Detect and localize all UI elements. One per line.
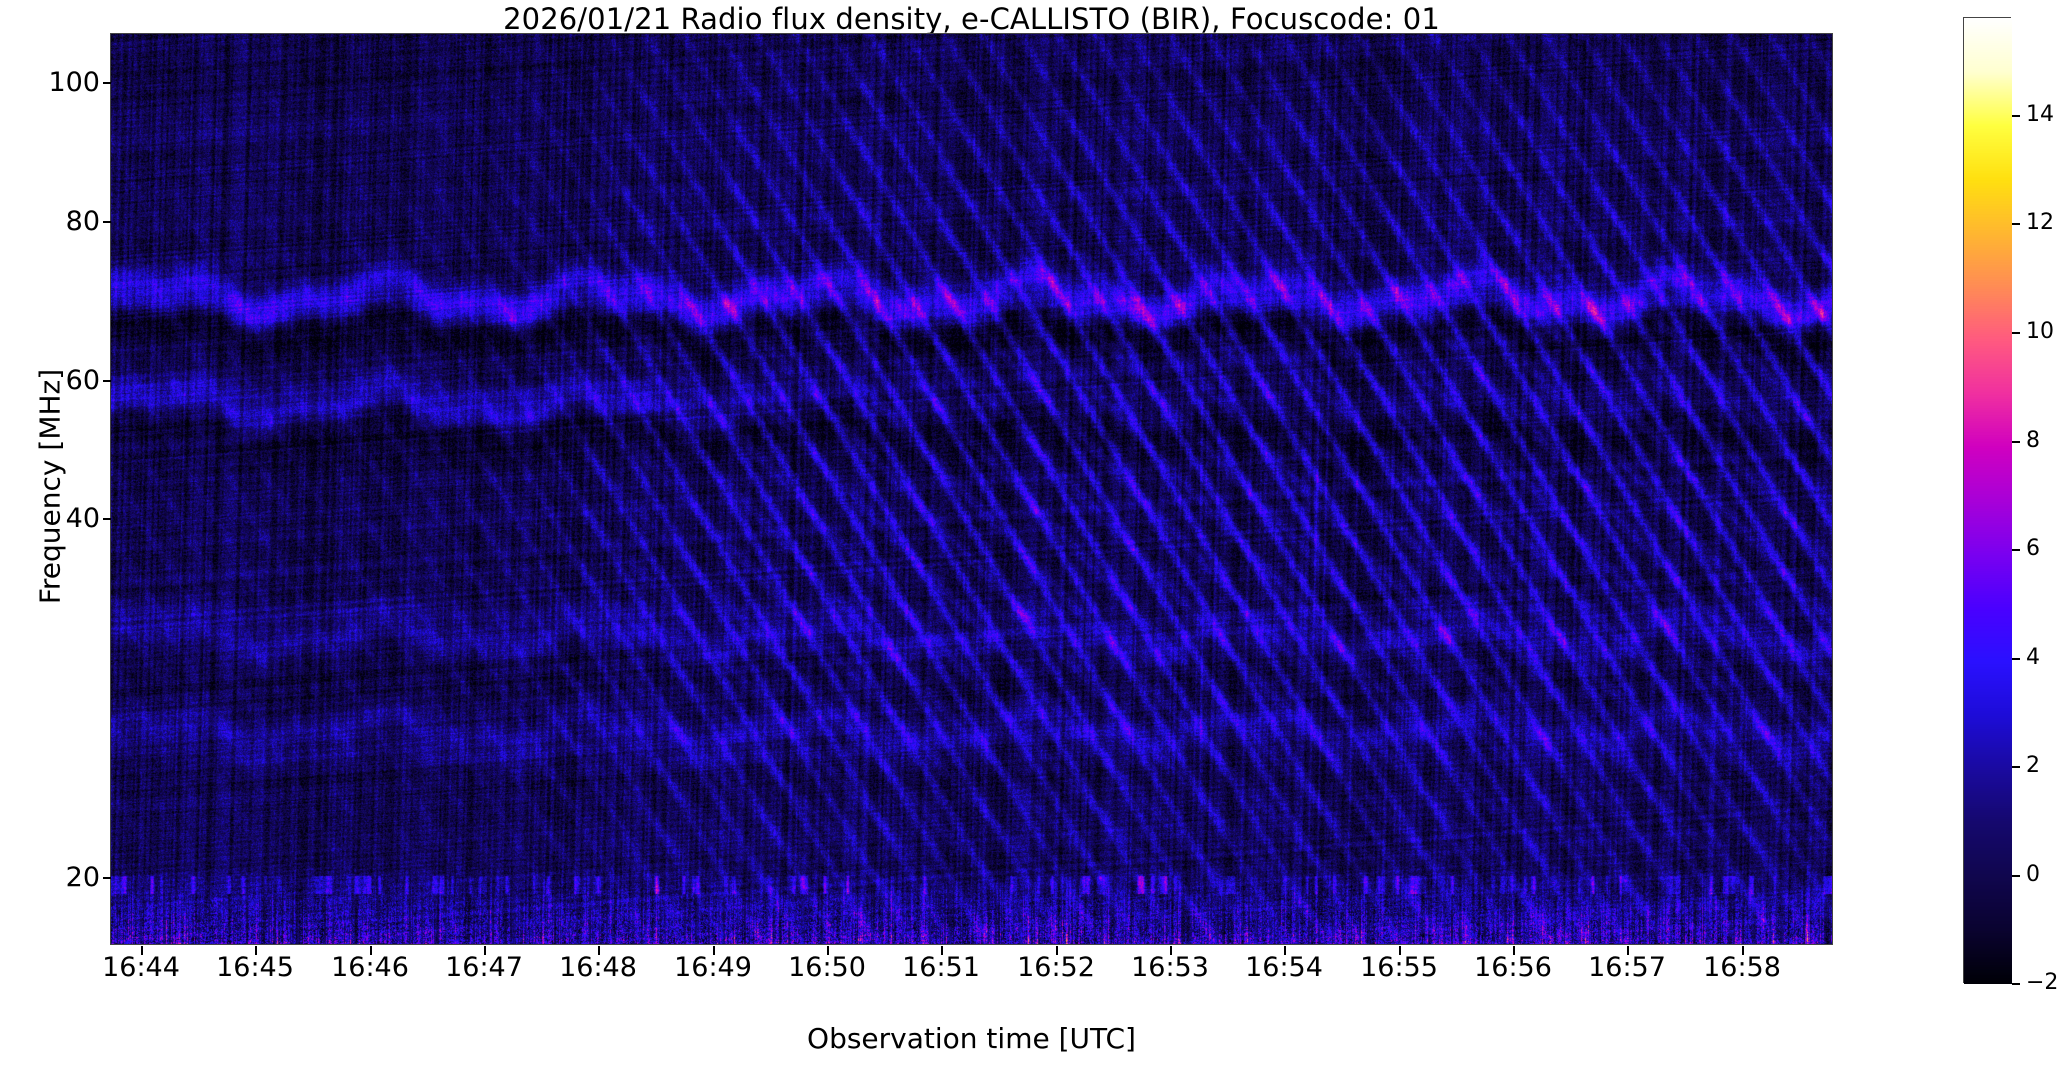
y-tick-label: 20 (8, 864, 100, 891)
x-tick-mark (941, 946, 943, 955)
figure-canvas: 2026/01/21 Radio flux density, e-CALLIST… (0, 0, 2066, 1067)
colorbar-tick-label: 2 (2026, 755, 2040, 777)
colorbar-gradient (1964, 18, 2012, 984)
y-tick-mark (103, 518, 111, 520)
x-tick-mark (713, 946, 715, 955)
colorbar-tick-label: 6 (2026, 538, 2040, 560)
colorbar-tick-mark (2012, 332, 2020, 334)
y-tick-mark (103, 221, 111, 223)
colorbar-tick-mark (2012, 223, 2020, 225)
x-axis-label: Observation time [UTC] (110, 1022, 1833, 1055)
spectrogram-image (111, 34, 1833, 945)
colorbar-tick-mark (2012, 441, 2020, 443)
colorbar-tick-mark (2012, 658, 2020, 660)
x-tick-mark (1056, 946, 1058, 955)
colorbar-tick-label: 8 (2026, 430, 2040, 452)
colorbar-tick-mark (2012, 875, 2020, 877)
x-tick-mark (1627, 946, 1629, 955)
colorbar-tick-label: 14 (2026, 104, 2054, 126)
x-tick-mark (1399, 946, 1401, 955)
colorbar-tick-label: −2 (2026, 972, 2058, 994)
colorbar-tick-label: 0 (2026, 864, 2040, 886)
x-tick-label: 16:58 (1662, 954, 1822, 981)
x-tick-mark (1284, 946, 1286, 955)
page-title: 2026/01/21 Radio flux density, e-CALLIST… (0, 2, 1943, 36)
x-tick-mark (370, 946, 372, 955)
colorbar-tick-label: 10 (2026, 321, 2054, 343)
x-tick-mark (598, 946, 600, 955)
colorbar-tick-mark (2012, 983, 2020, 985)
y-tick-mark (103, 877, 111, 879)
y-axis-label: Frequency [MHz] (34, 107, 67, 867)
y-tick-mark (103, 380, 111, 382)
x-tick-mark (1170, 946, 1172, 955)
x-tick-mark (1513, 946, 1515, 955)
x-tick-mark (484, 946, 486, 955)
x-tick-mark (141, 946, 143, 955)
colorbar[interactable] (1963, 17, 2011, 983)
colorbar-tick-mark (2012, 766, 2020, 768)
colorbar-tick-label: 12 (2026, 212, 2054, 234)
colorbar-tick-label: 4 (2026, 647, 2040, 669)
y-tick-mark (103, 82, 111, 84)
x-tick-mark (827, 946, 829, 955)
colorbar-tick-mark (2012, 549, 2020, 551)
y-tick-label: 100 (8, 69, 100, 96)
x-tick-mark (255, 946, 257, 955)
spectrogram-axes[interactable] (110, 33, 1833, 945)
colorbar-tick-mark (2012, 115, 2020, 117)
x-tick-mark (1742, 946, 1744, 955)
